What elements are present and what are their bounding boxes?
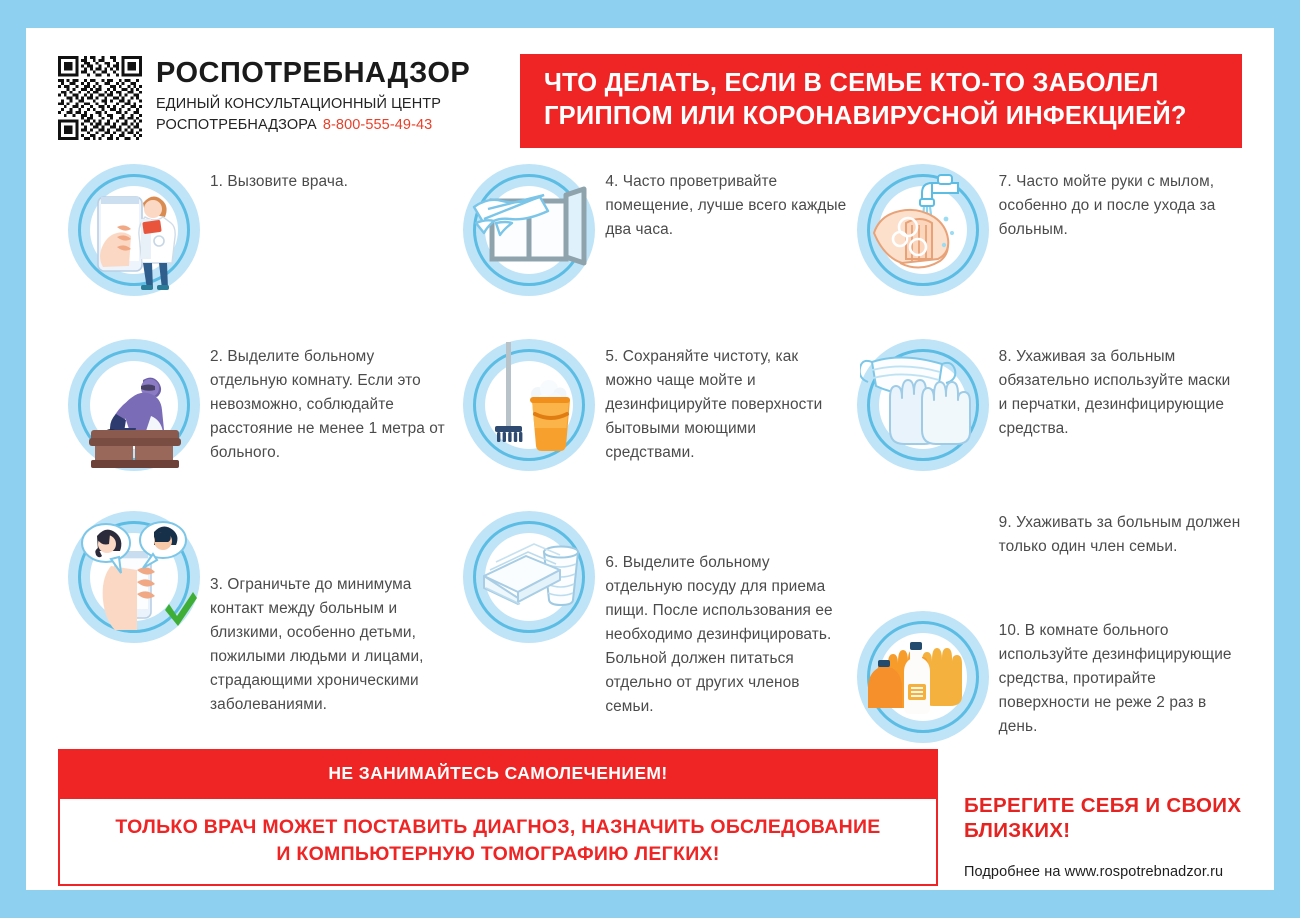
advice-columns: 1. Вызовите врача. <box>58 164 1242 743</box>
care-message-line-2: БЛИЗКИХ! <box>964 818 1242 843</box>
brand-text-block: РОСПОТРЕБНАДЗОР ЕДИНЫЙ КОНСУЛЬТАЦИОННЫЙ … <box>156 56 470 135</box>
handwashing-faucet-icon <box>857 164 989 296</box>
gloves-and-cleaning-bottles-icon <box>857 611 989 743</box>
poster-frame: РОСПОТРЕБНАДЗОР ЕДИНЫЙ КОНСУЛЬТАЦИОННЫЙ … <box>0 0 1300 918</box>
text-cell-8: 8. Ухаживая за больным обязательно испол… <box>999 339 1242 441</box>
poster-sheet: РОСПОТРЕБНАДЗОР ЕДИНЫЙ КОНСУЛЬТАЦИОННЫЙ … <box>26 28 1274 890</box>
icon-cell-2 <box>58 339 210 471</box>
advice-block-8: 8. Ухаживая за больным обязательно испол… <box>847 339 1242 511</box>
advice-block-7: 7. Часто мойте руки с мылом, особенно до… <box>847 164 1242 339</box>
icon-cell-3 <box>58 511 210 643</box>
icon-cell-1 <box>58 164 210 296</box>
advice-text-7: 7. Часто мойте руки с мылом, особенно до… <box>999 170 1242 242</box>
brand-subtitle-line-2: РОСПОТРЕБНАДЗОРА8-800-555-49-43 <box>156 116 470 135</box>
qr-code-icon <box>58 56 142 140</box>
phone-chat-bubbles-checkmark-icon <box>68 511 200 643</box>
text-cell-6: 6. Выделите больному отдельную посуду дл… <box>605 511 846 719</box>
care-message-line-1: БЕРЕГИТЕ СЕБЯ И СВОИХ <box>964 793 1242 818</box>
hotline-phone-number[interactable]: 8-800-555-49-43 <box>323 117 433 133</box>
icon-cell-7 <box>847 164 999 296</box>
advice-block-10: 10. В комнате больного используйте дезин… <box>847 611 1242 743</box>
self-medication-warning-banner: НЕ ЗАНИМАЙТЕСЬ САМОЛЕЧЕНИЕМ! <box>58 749 938 799</box>
text-cell-9: 9. Ухаживать за больным должен только од… <box>999 511 1242 559</box>
brand-title: РОСПОТРЕБНАДЗОР <box>156 58 470 88</box>
text-cell-10: 10. В комнате больного используйте дезин… <box>999 611 1242 739</box>
advice-block-4: 4. Часто проветривайте помещение, лучше … <box>453 164 846 339</box>
open-window-ventilation-icon <box>463 164 595 296</box>
text-cell-4: 4. Часто проветривайте помещение, лучше … <box>605 164 846 242</box>
advice-text-6: 6. Выделите больному отдельную посуду дл… <box>605 551 846 719</box>
mask-and-gloves-icon <box>857 339 989 471</box>
column-1: 1. Вызовите врача. <box>58 164 453 743</box>
title-line-2: ГРИППОМ ИЛИ КОРОНАВИРУСНОЙ ИНФЕКЦИЕЙ? <box>544 100 1218 133</box>
doctor-notice-box: ТОЛЬКО ВРАЧ МОЖЕТ ПОСТАВИТЬ ДИАГНОЗ, НАЗ… <box>58 799 938 886</box>
advice-block-5: 5. Сохраняйте чистоту, как можно чаще мо… <box>453 339 846 511</box>
advice-text-8: 8. Ухаживая за больным обязательно испол… <box>999 345 1242 441</box>
advice-block-9: 9. Ухаживать за больным должен только од… <box>847 511 1242 611</box>
mop-and-bucket-icon <box>463 339 595 471</box>
advice-text-2: 2. Выделите больному отдельную комнату. … <box>210 345 453 465</box>
advice-text-1: 1. Вызовите врача. <box>210 170 453 194</box>
advice-text-5: 5. Сохраняйте чистоту, как можно чаще мо… <box>605 345 846 465</box>
footer-care-group: БЕРЕГИТЕ СЕБЯ И СВОИХ БЛИЗКИХ! Подробнее… <box>956 749 1242 886</box>
icon-cell-4 <box>453 164 605 296</box>
advice-block-1: 1. Вызовите врача. <box>58 164 453 339</box>
icon-cell-10 <box>847 611 999 743</box>
advice-block-3: 3. Ограничьте до минимума контакт между … <box>58 511 453 717</box>
phone-doctor-call-icon <box>68 164 200 296</box>
icon-cell-5 <box>453 339 605 471</box>
column-3: 7. Часто мойте руки с мылом, особенно до… <box>847 164 1242 743</box>
advice-text-10: 10. В комнате больного используйте дезин… <box>999 619 1242 739</box>
poster-footer: НЕ ЗАНИМАЙТЕСЬ САМОЛЕЧЕНИЕМ! ТОЛЬКО ВРАЧ… <box>58 749 1242 886</box>
text-cell-3: 3. Ограничьте до минимума контакт между … <box>210 511 453 717</box>
poster-header: РОСПОТРЕБНАДЗОР ЕДИНЫЙ КОНСУЛЬТАЦИОННЫЙ … <box>58 54 1242 148</box>
icon-cell-6 <box>453 511 605 643</box>
advice-text-9: 9. Ухаживать за больным должен только од… <box>999 511 1242 559</box>
text-cell-5: 5. Сохраняйте чистоту, как можно чаще мо… <box>605 339 846 465</box>
advice-block-6: 6. Выделите больному отдельную посуду дл… <box>453 511 846 719</box>
brand-subtitle-org: РОСПОТРЕБНАДЗОРА <box>156 117 317 133</box>
advice-block-2: 2. Выделите больному отдельную комнату. … <box>58 339 453 511</box>
advice-text-4: 4. Часто проветривайте помещение, лучше … <box>605 170 846 242</box>
more-info-link[interactable]: Подробнее на www.rospotrebnadzor.ru <box>964 864 1242 880</box>
footer-warning-group: НЕ ЗАНИМАЙТЕСЬ САМОЛЕЧЕНИЕМ! ТОЛЬКО ВРАЧ… <box>58 749 938 886</box>
doctor-notice-line-2: И КОМПЬЮТЕРНУЮ ТОМОГРАФИЮ ЛЕГКИХ! <box>70 841 926 868</box>
doctor-notice-line-1: ТОЛЬКО ВРАЧ МОЖЕТ ПОСТАВИТЬ ДИАГНОЗ, НАЗ… <box>70 814 926 841</box>
disposable-dishes-cups-icon <box>463 511 595 643</box>
text-cell-2: 2. Выделите больному отдельную комнату. … <box>210 339 453 465</box>
brand-block: РОСПОТРЕБНАДЗОР ЕДИНЫЙ КОНСУЛЬТАЦИОННЫЙ … <box>58 54 498 140</box>
person-resting-on-sofa-icon <box>68 339 200 471</box>
text-cell-1: 1. Вызовите врача. <box>210 164 453 194</box>
text-cell-7: 7. Часто мойте руки с мылом, особенно до… <box>999 164 1242 242</box>
advice-text-3: 3. Ограничьте до минимума контакт между … <box>210 573 453 717</box>
brand-subtitle-line-1: ЕДИНЫЙ КОНСУЛЬТАЦИОННЫЙ ЦЕНТР <box>156 95 470 114</box>
title-line-1: ЧТО ДЕЛАТЬ, ЕСЛИ В СЕМЬЕ КТО-ТО ЗАБОЛЕЛ <box>544 67 1218 100</box>
title-banner: ЧТО ДЕЛАТЬ, ЕСЛИ В СЕМЬЕ КТО-ТО ЗАБОЛЕЛ … <box>520 54 1242 148</box>
icon-cell-8 <box>847 339 999 471</box>
column-2: 4. Часто проветривайте помещение, лучше … <box>453 164 846 743</box>
